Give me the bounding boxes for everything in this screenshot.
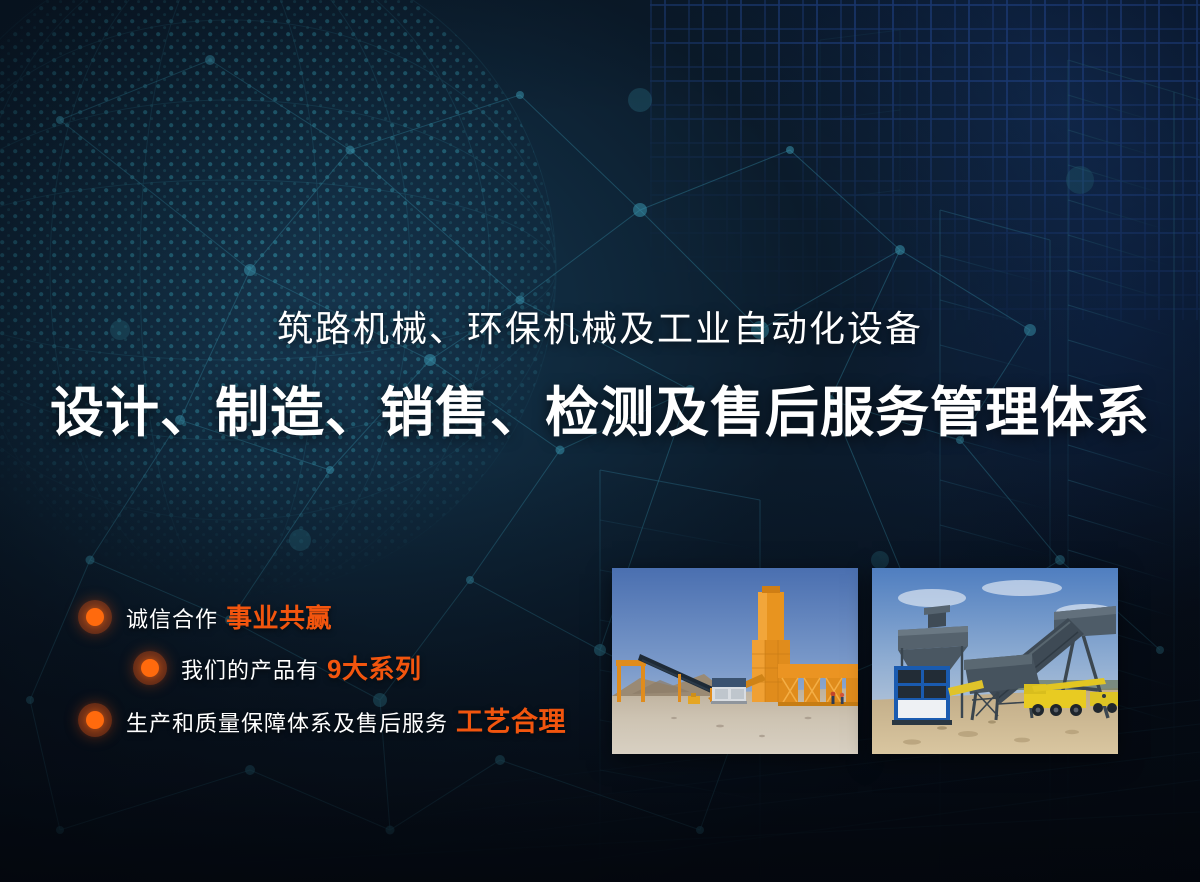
list-item-label: 诚信合作 (126, 607, 218, 632)
list-item: 我们的产品有9大系列 (133, 649, 598, 686)
photo-concrete-batching-plant (612, 568, 858, 754)
feature-list: 诚信合作事业共赢 我们的产品有9大系列 生产和质量保障体系及售后服务工艺合理 (78, 598, 598, 753)
list-item-text: 我们的产品有9大系列 (181, 649, 421, 686)
mixing-plant-illustration (872, 568, 1118, 754)
concrete-plant-illustration (612, 568, 858, 754)
photo-gallery (612, 568, 1118, 754)
banner-headline: 筑路机械、环保机械及工业自动化设备 (0, 300, 1200, 352)
promo-banner: 筑路机械、环保机械及工业自动化设备 设计、制造、销售、检测及售后服务管理体系 诚… (0, 0, 1200, 882)
list-item-highlight: 9大系列 (327, 654, 421, 684)
list-item-label: 生产和质量保障体系及售后服务 (126, 711, 448, 736)
list-item-text: 生产和质量保障体系及售后服务工艺合理 (126, 700, 566, 739)
list-item-label: 我们的产品有 (181, 658, 319, 683)
list-item: 诚信合作事业共赢 (78, 598, 598, 635)
bullet-dot-icon (78, 600, 112, 634)
list-item-text: 诚信合作事业共赢 (126, 598, 332, 635)
list-item: 生产和质量保障体系及售后服务工艺合理 (78, 700, 598, 739)
photo-mobile-mixing-plant (872, 568, 1118, 754)
bullet-dot-icon (78, 703, 112, 737)
list-item-highlight: 工艺合理 (456, 707, 566, 737)
bullet-dot-icon (133, 651, 167, 685)
banner-title: 设计、制造、销售、检测及售后服务管理体系 (0, 368, 1200, 447)
list-item-highlight: 事业共赢 (226, 603, 332, 633)
